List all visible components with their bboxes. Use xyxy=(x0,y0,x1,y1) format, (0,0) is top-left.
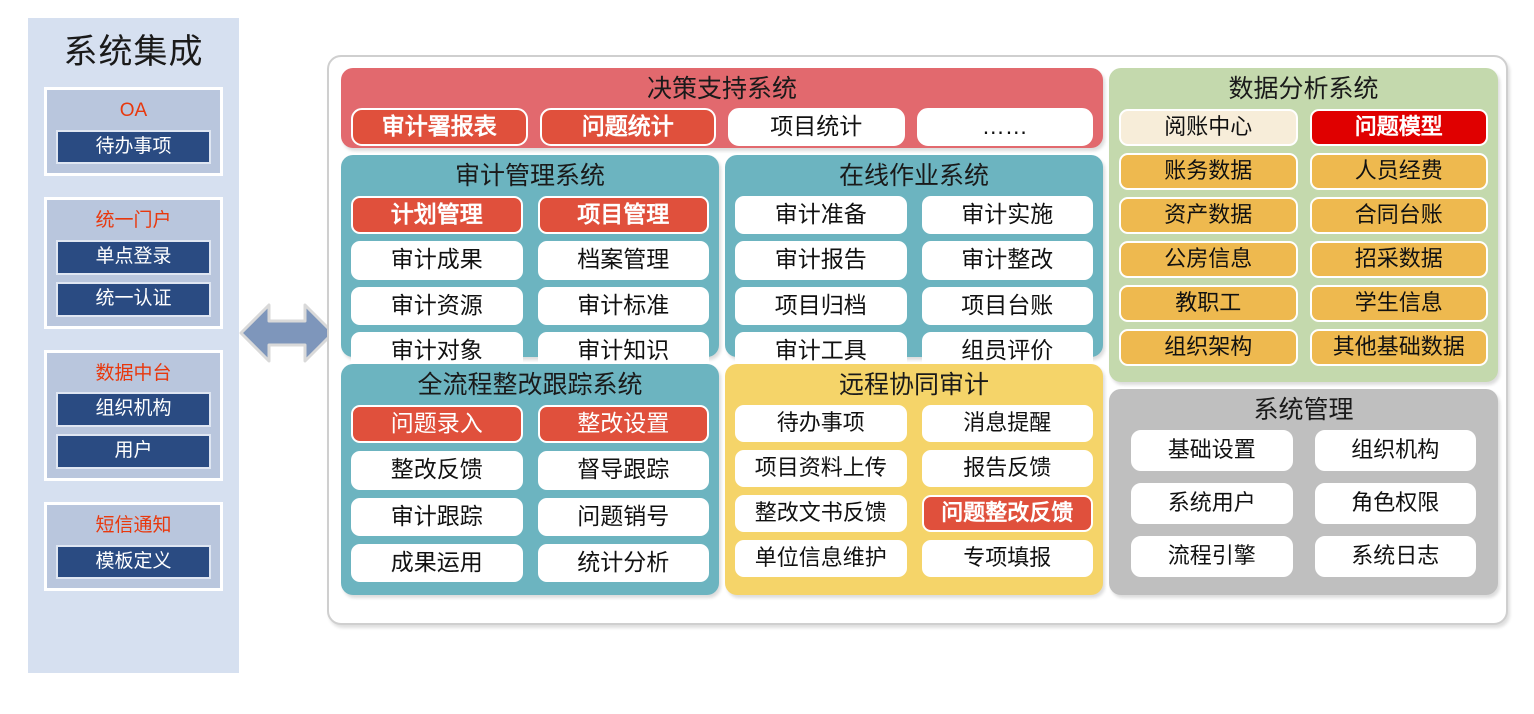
tile-decision[interactable]: 问题统计 xyxy=(540,108,717,146)
sidebar-group-title: 数据中台 xyxy=(56,360,211,393)
tile-rectify[interactable]: 整改反馈 xyxy=(351,451,523,489)
platform-architecture-container: 决策支持系统 审计署报表问题统计项目统计…… 审计管理系统 计划管理项目管理审计… xyxy=(327,55,1508,625)
tile-online[interactable]: 审计报告 xyxy=(735,241,907,279)
double-arrow-horizontal-icon xyxy=(239,289,335,377)
tile-data-analysis[interactable]: 阅账中心 xyxy=(1119,109,1298,146)
tile-data-analysis[interactable]: 账务数据 xyxy=(1119,153,1298,190)
tile-sys-mgmt[interactable]: 基础设置 xyxy=(1131,430,1293,471)
system-integration-sidebar: 系统集成 OA待办事项统一门户单点登录统一认证数据中台组织机构用户短信通知模板定… xyxy=(28,18,239,673)
panel-decision-support: 决策支持系统 审计署报表问题统计项目统计…… xyxy=(341,68,1103,148)
tile-sys-mgmt[interactable]: 角色权限 xyxy=(1315,483,1477,524)
tile-decision[interactable]: …… xyxy=(917,108,1094,146)
tile-data-analysis[interactable]: 公房信息 xyxy=(1119,241,1298,278)
sidebar-item-button[interactable]: 单点登录 xyxy=(56,240,211,275)
tile-online[interactable]: 审计实施 xyxy=(922,196,1094,234)
tile-online[interactable]: 项目台账 xyxy=(922,287,1094,325)
sidebar-group-0: OA待办事项 xyxy=(44,87,223,176)
tile-online[interactable]: 项目归档 xyxy=(735,287,907,325)
tile-data-analysis[interactable]: 学生信息 xyxy=(1310,285,1489,322)
panel-remote-collaborative-audit-title: 远程协同审计 xyxy=(735,370,1093,405)
panel-online-operation-tiles: 审计准备审计实施审计报告审计整改项目归档项目台账审计工具组员评价 xyxy=(735,196,1093,370)
panel-decision-support-tiles: 审计署报表问题统计项目统计…… xyxy=(351,108,1093,146)
tile-remote[interactable]: 项目资料上传 xyxy=(735,450,907,487)
sidebar-item-button[interactable]: 统一认证 xyxy=(56,282,211,317)
tile-decision[interactable]: 审计署报表 xyxy=(351,108,528,146)
tile-rectify[interactable]: 整改设置 xyxy=(538,405,710,443)
tile-remote[interactable]: 待办事项 xyxy=(735,405,907,442)
tile-audit-mgmt[interactable]: 项目管理 xyxy=(538,196,710,234)
sidebar-item-button[interactable]: 待办事项 xyxy=(56,130,211,165)
tile-online[interactable]: 审计准备 xyxy=(735,196,907,234)
tile-sys-mgmt[interactable]: 流程引擎 xyxy=(1131,536,1293,577)
tile-decision[interactable]: 项目统计 xyxy=(728,108,905,146)
tile-rectify[interactable]: 成果运用 xyxy=(351,544,523,582)
sidebar-item-button[interactable]: 组织机构 xyxy=(56,392,211,427)
panel-rectification-tracking-title: 全流程整改跟踪系统 xyxy=(351,370,709,405)
panel-system-management-tiles: 基础设置组织机构系统用户角色权限流程引擎系统日志 xyxy=(1119,430,1488,577)
tile-data-analysis[interactable]: 其他基础数据 xyxy=(1310,329,1489,366)
tile-data-analysis[interactable]: 教职工 xyxy=(1119,285,1298,322)
tile-remote[interactable]: 单位信息维护 xyxy=(735,540,907,577)
tile-data-analysis[interactable]: 合同台账 xyxy=(1310,197,1489,234)
sidebar-group-2: 数据中台组织机构用户 xyxy=(44,350,223,481)
sidebar-title: 系统集成 xyxy=(44,18,223,87)
panel-rectification-tracking: 全流程整改跟踪系统 问题录入整改设置整改反馈督导跟踪审计跟踪问题销号成果运用统计… xyxy=(341,364,719,595)
panel-audit-management: 审计管理系统 计划管理项目管理审计成果档案管理审计资源审计标准审计对象审计知识 xyxy=(341,155,719,357)
panel-online-operation: 在线作业系统 审计准备审计实施审计报告审计整改项目归档项目台账审计工具组员评价 xyxy=(725,155,1103,357)
panel-audit-management-tiles: 计划管理项目管理审计成果档案管理审计资源审计标准审计对象审计知识 xyxy=(351,196,709,370)
tile-remote[interactable]: 报告反馈 xyxy=(922,450,1094,487)
tile-online[interactable]: 审计整改 xyxy=(922,241,1094,279)
panel-data-analysis-title: 数据分析系统 xyxy=(1119,74,1488,109)
sidebar-group-title: OA xyxy=(56,97,211,130)
tile-data-analysis[interactable]: 资产数据 xyxy=(1119,197,1298,234)
tile-rectify[interactable]: 问题录入 xyxy=(351,405,523,443)
panel-remote-collaborative-audit: 远程协同审计 待办事项消息提醒项目资料上传报告反馈整改文书反馈问题整改反馈单位信… xyxy=(725,364,1103,595)
sidebar-item-button[interactable]: 用户 xyxy=(56,434,211,469)
panel-online-operation-title: 在线作业系统 xyxy=(735,161,1093,196)
tile-audit-mgmt[interactable]: 审计成果 xyxy=(351,241,523,279)
sidebar-group-title: 短信通知 xyxy=(56,512,211,545)
sidebar-group-1: 统一门户单点登录统一认证 xyxy=(44,197,223,328)
sidebar-group-list: OA待办事项统一门户单点登录统一认证数据中台组织机构用户短信通知模板定义 xyxy=(44,87,223,591)
tile-audit-mgmt[interactable]: 审计标准 xyxy=(538,287,710,325)
sidebar-item-button[interactable]: 模板定义 xyxy=(56,545,211,580)
tile-audit-mgmt[interactable]: 计划管理 xyxy=(351,196,523,234)
panel-audit-management-title: 审计管理系统 xyxy=(351,161,709,196)
tile-remote[interactable]: 消息提醒 xyxy=(922,405,1094,442)
tile-sys-mgmt[interactable]: 组织机构 xyxy=(1315,430,1477,471)
tile-rectify[interactable]: 督导跟踪 xyxy=(538,451,710,489)
tile-data-analysis[interactable]: 组织架构 xyxy=(1119,329,1298,366)
tile-rectify[interactable]: 统计分析 xyxy=(538,544,710,582)
tile-remote[interactable]: 整改文书反馈 xyxy=(735,495,907,532)
tile-audit-mgmt[interactable]: 审计资源 xyxy=(351,287,523,325)
tile-sys-mgmt[interactable]: 系统日志 xyxy=(1315,536,1477,577)
panel-system-management: 系统管理 基础设置组织机构系统用户角色权限流程引擎系统日志 xyxy=(1109,389,1498,595)
tile-sys-mgmt[interactable]: 系统用户 xyxy=(1131,483,1293,524)
panel-data-analysis: 数据分析系统 阅账中心问题模型账务数据人员经费资产数据合同台账公房信息招采数据教… xyxy=(1109,68,1498,382)
tile-remote[interactable]: 专项填报 xyxy=(922,540,1094,577)
panel-system-management-title: 系统管理 xyxy=(1119,395,1488,430)
tile-remote[interactable]: 问题整改反馈 xyxy=(922,495,1094,532)
tile-data-analysis[interactable]: 招采数据 xyxy=(1310,241,1489,278)
tile-data-analysis[interactable]: 问题模型 xyxy=(1310,109,1489,146)
panel-data-analysis-tiles: 阅账中心问题模型账务数据人员经费资产数据合同台账公房信息招采数据教职工学生信息组… xyxy=(1119,109,1488,366)
sidebar-group-3: 短信通知模板定义 xyxy=(44,502,223,591)
tile-rectify[interactable]: 问题销号 xyxy=(538,498,710,536)
panel-decision-support-title: 决策支持系统 xyxy=(351,74,1093,108)
panel-remote-collaborative-audit-tiles: 待办事项消息提醒项目资料上传报告反馈整改文书反馈问题整改反馈单位信息维护专项填报 xyxy=(735,405,1093,577)
panel-rectification-tracking-tiles: 问题录入整改设置整改反馈督导跟踪审计跟踪问题销号成果运用统计分析 xyxy=(351,405,709,582)
sidebar-group-title: 统一门户 xyxy=(56,207,211,240)
tile-data-analysis[interactable]: 人员经费 xyxy=(1310,153,1489,190)
tile-rectify[interactable]: 审计跟踪 xyxy=(351,498,523,536)
panel-grid: 决策支持系统 审计署报表问题统计项目统计…… 审计管理系统 计划管理项目管理审计… xyxy=(341,68,1494,612)
tile-audit-mgmt[interactable]: 档案管理 xyxy=(538,241,710,279)
